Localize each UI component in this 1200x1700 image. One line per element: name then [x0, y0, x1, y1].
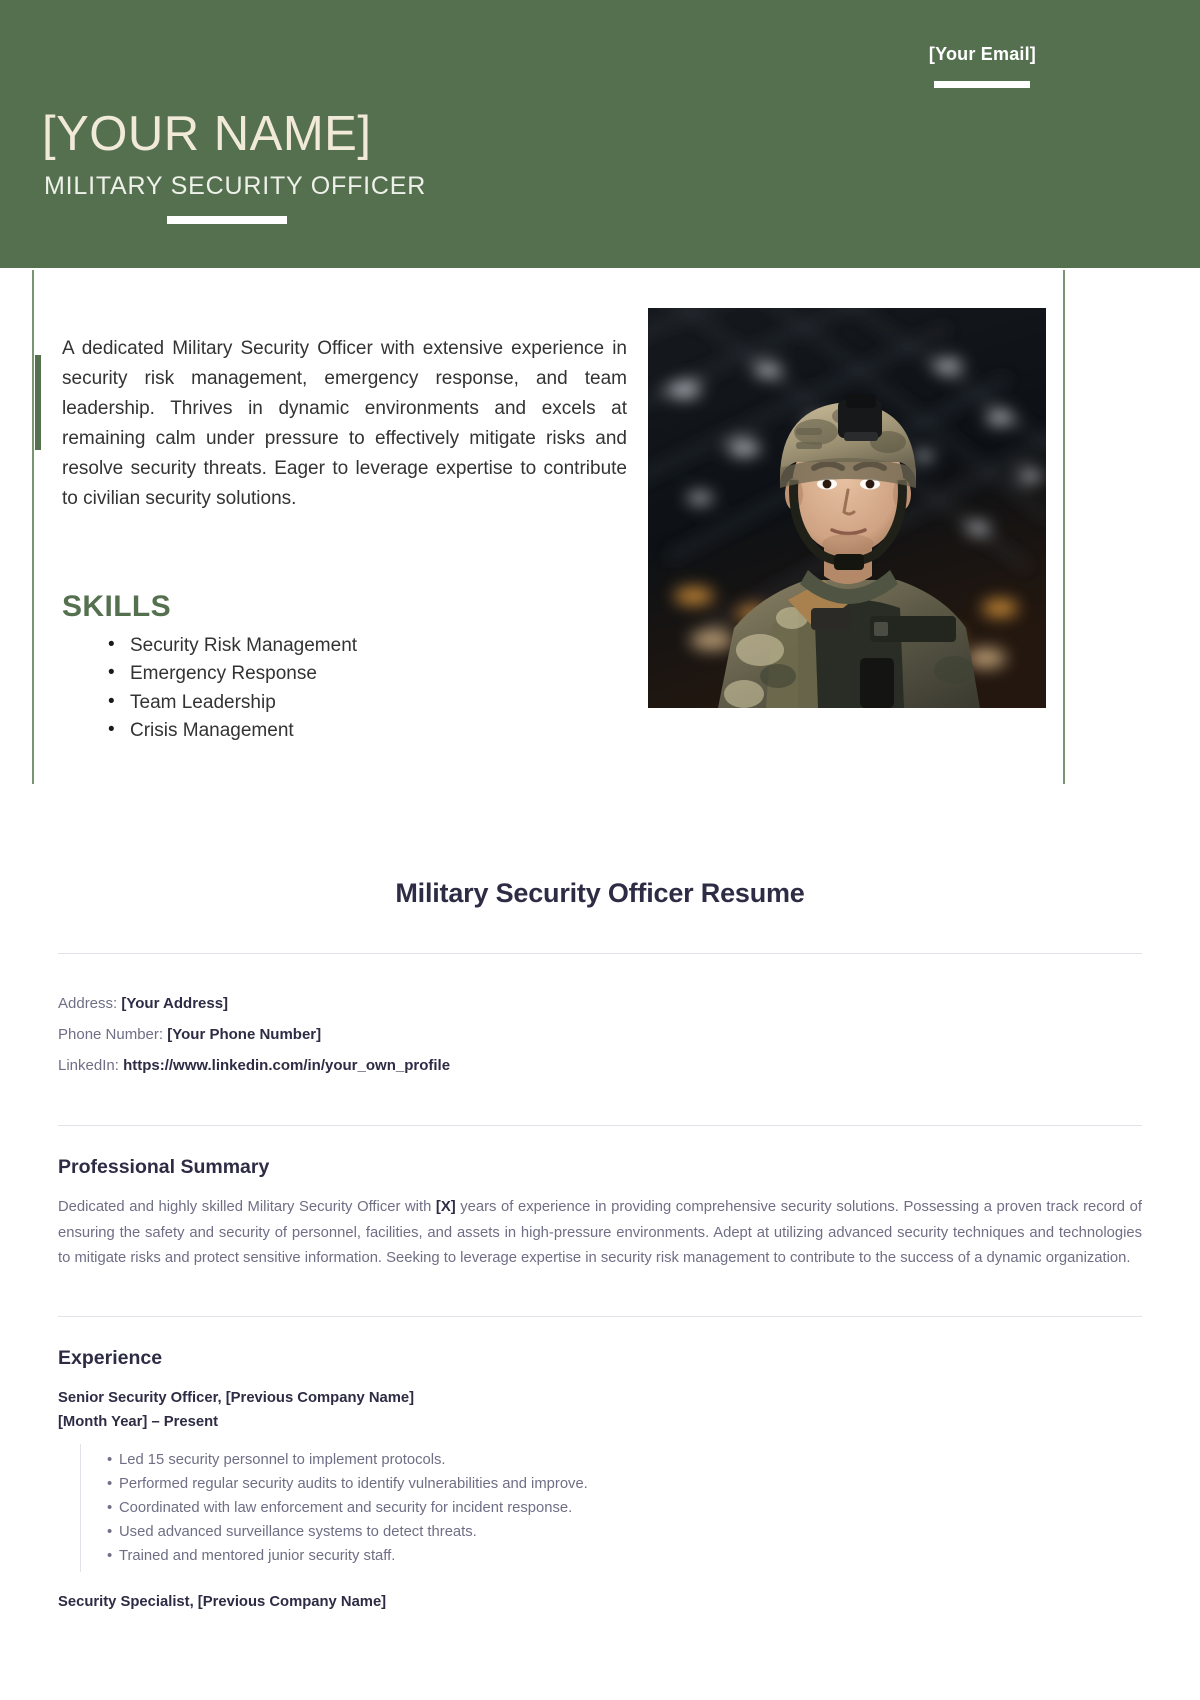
- resume-document: Military Security Officer Resume Address…: [0, 786, 1200, 1614]
- section-heading-experience: Experience: [58, 1347, 1142, 1370]
- experience-entry: Security Specialist, [Previous Company N…: [58, 1590, 1142, 1614]
- list-item: Performed regular security audits to ide…: [107, 1472, 1142, 1496]
- contact-value-address: [Your Address]: [121, 995, 228, 1012]
- profile-summary-text: A dedicated Military Security Officer wi…: [62, 334, 627, 514]
- soldier-portrait-photo: [648, 308, 1046, 708]
- summary-highlight-years: [X]: [436, 1199, 456, 1215]
- job-bullet-list: Led 15 security personnel to implement p…: [80, 1444, 1142, 1572]
- spacer: [58, 1572, 1142, 1590]
- document-title: Military Security Officer Resume: [0, 878, 1200, 909]
- email-label: [Your Email]: [929, 44, 1036, 65]
- list-item: Crisis Management: [108, 717, 357, 745]
- contact-row-linkedin: LinkedIn: https://www.linkedin.com/in/yo…: [58, 1050, 1142, 1081]
- experience-section: Experience Senior Security Officer, [Pre…: [58, 1347, 1142, 1614]
- divider: [58, 953, 1142, 954]
- job-title: Senior Security Officer, [Previous Compa…: [58, 1386, 1142, 1410]
- summary-accent-bar: [35, 355, 41, 450]
- contact-row-address: Address: [Your Address]: [58, 988, 1142, 1019]
- professional-summary-section: Professional Summary Dedicated and highl…: [58, 1156, 1142, 1272]
- list-item: Led 15 security personnel to implement p…: [107, 1448, 1142, 1472]
- contact-label-phone: Phone Number:: [58, 1026, 163, 1043]
- role-underline-rule: [167, 216, 287, 224]
- job-title: Security Specialist, [Previous Company N…: [58, 1590, 1142, 1614]
- right-vertical-rule: [1063, 270, 1065, 784]
- contact-block: Address: [Your Address] Phone Number: [Y…: [58, 988, 1142, 1081]
- section-heading-professional-summary: Professional Summary: [58, 1156, 1142, 1179]
- role-subtitle: MILITARY SECURITY OFFICER: [44, 172, 426, 201]
- summary-column: A dedicated Military Security Officer wi…: [62, 334, 627, 514]
- divider: [58, 1316, 1142, 1317]
- contact-label-linkedin: LinkedIn:: [58, 1057, 119, 1074]
- page-title: [YOUR NAME]: [42, 108, 371, 162]
- list-item: Security Risk Management: [108, 632, 357, 660]
- list-item: Emergency Response: [108, 660, 357, 688]
- list-item: Used advanced surveillance systems to de…: [107, 1520, 1142, 1544]
- summary-text-before: Dedicated and highly skilled Military Se…: [58, 1199, 436, 1215]
- list-item: Trained and mentored junior security sta…: [107, 1544, 1142, 1568]
- email-block: [Your Email]: [929, 44, 1036, 88]
- left-vertical-rule: [32, 270, 34, 784]
- job-dates: [Month Year] – Present: [58, 1410, 1142, 1434]
- email-underline-rule: [934, 81, 1030, 88]
- contact-label-address: Address:: [58, 995, 117, 1012]
- list-item: Coordinated with law enforcement and sec…: [107, 1496, 1142, 1520]
- professional-summary-text: Dedicated and highly skilled Military Se…: [58, 1195, 1142, 1272]
- skills-heading: SKILLS: [62, 590, 171, 624]
- contact-value-linkedin[interactable]: https://www.linkedin.com/in/your_own_pro…: [123, 1057, 450, 1074]
- experience-entry: Senior Security Officer, [Previous Compa…: [58, 1386, 1142, 1572]
- list-item: Team Leadership: [108, 689, 357, 717]
- divider: [58, 1125, 1142, 1126]
- skills-list: Security Risk Management Emergency Respo…: [62, 632, 357, 745]
- contact-row-phone: Phone Number: [Your Phone Number]: [58, 1019, 1142, 1050]
- contact-value-phone: [Your Phone Number]: [167, 1026, 321, 1043]
